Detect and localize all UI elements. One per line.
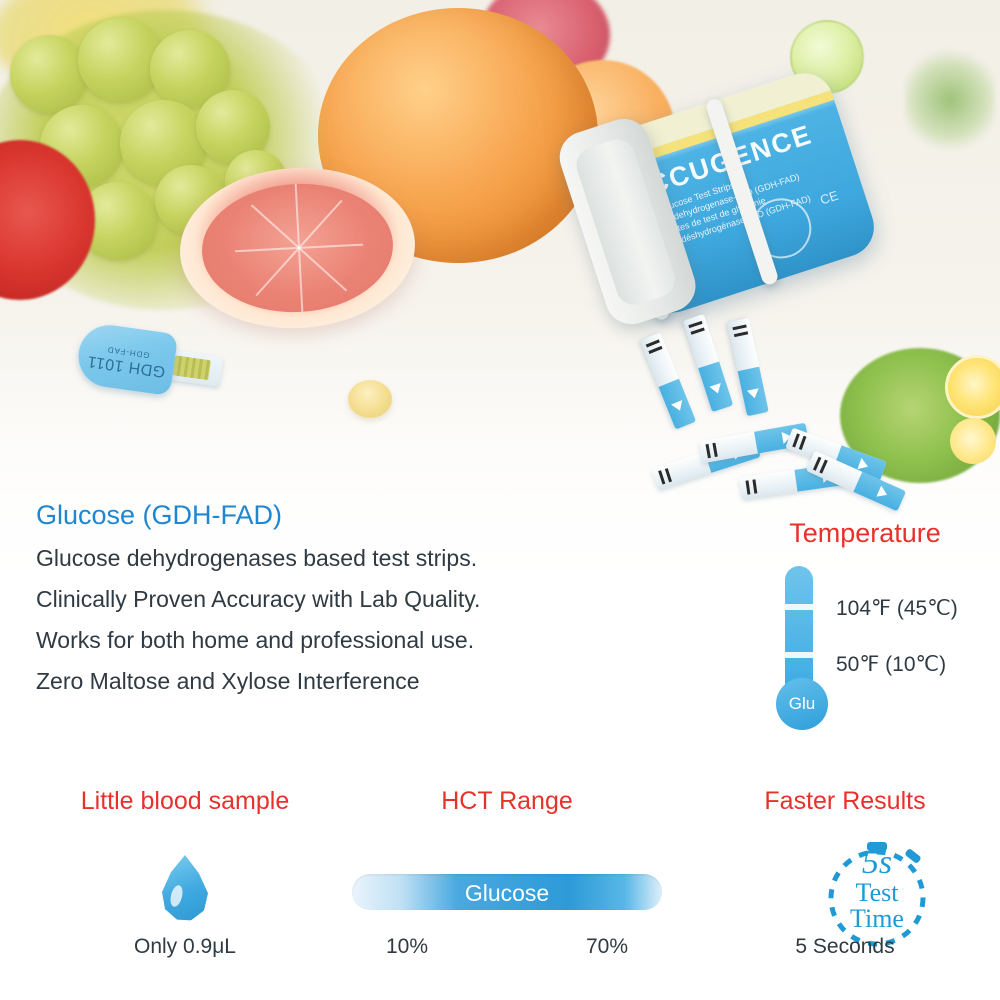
marketing-copy: Glucose (GDH-FAD) Glucose dehydrogenases… (36, 500, 656, 709)
copy-line-3: Works for both home and professional use… (36, 627, 656, 654)
temperature-high: 104℉ (45℃) (836, 596, 958, 621)
hct-min-value: 10% (352, 935, 462, 959)
stopwatch-line-2: Time (817, 904, 937, 934)
hct-max-value: 70% (552, 935, 662, 959)
strip-body: GDH 1011 GDH-FAD (75, 321, 179, 396)
lemon-slice (950, 418, 996, 464)
copy-line-4: Zero Maltose and Xylose Interference (36, 668, 656, 695)
temperature-low: 50℉ (10℃) (836, 652, 946, 677)
hct-bar-label: Glucose (352, 880, 662, 907)
copy-heading: Glucose (GDH-FAD) (36, 500, 656, 531)
small-chip (348, 380, 392, 418)
feature-title-faster-results: Faster Results (700, 787, 990, 816)
temperature-module: Temperature Glu 104℉ (45℃) 50℉ (10℃) (740, 518, 990, 549)
test-strip-left: GDH 1011 GDH-FAD (73, 315, 227, 410)
temperature-title: Temperature (740, 518, 990, 549)
feature-title-blood-sample: Little blood sample (20, 787, 350, 816)
feature-sub-blood-sample: Only 0.9μL (20, 935, 350, 959)
copy-line-2: Clinically Proven Accuracy with Lab Qual… (36, 586, 656, 613)
feature-sub-faster-results: 5 Seconds (700, 935, 990, 959)
stopwatch-value: 5s (817, 844, 937, 882)
thermometer-bulb-label: Glu (776, 694, 828, 714)
stopwatch-icon: 5s Test Time (817, 838, 937, 948)
feature-title-hct-range: HCT Range (352, 787, 662, 816)
strip-gold-contact (173, 355, 211, 380)
loose-test-strip (727, 318, 768, 416)
strip-label: GDH 1011 GDH-FAD (85, 342, 170, 380)
blood-drop-icon (160, 855, 210, 921)
lemon-slice (945, 355, 1000, 419)
grape (10, 35, 88, 113)
thermometer-icon: Glu (782, 566, 816, 741)
copy-line-1: Glucose dehydrogenases based test strips… (36, 545, 656, 572)
grapefruit-flesh (199, 179, 396, 317)
herb-sprig (905, 45, 995, 155)
